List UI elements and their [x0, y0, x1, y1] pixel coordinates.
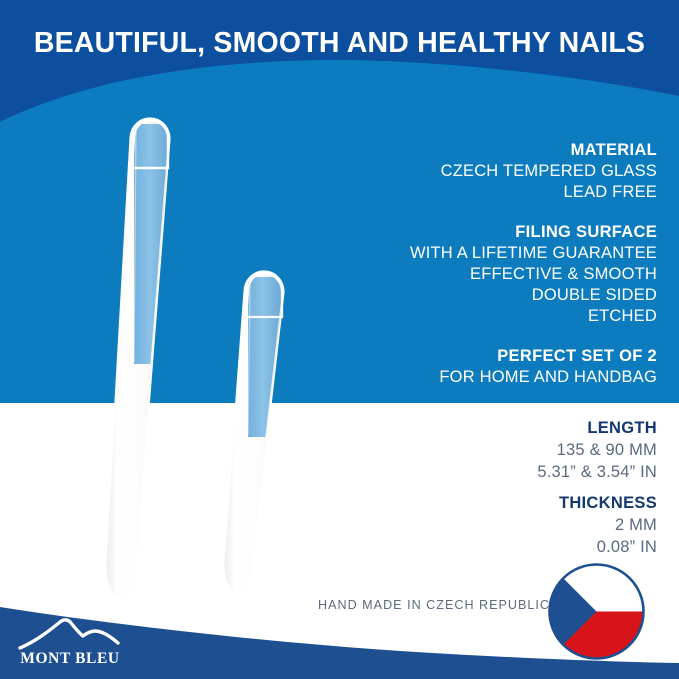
spec-group-material: MATERIAL CZECH TEMPERED GLASS LEAD FREE [327, 140, 657, 203]
spec-heading: PERFECT SET OF 2 [327, 346, 657, 367]
spec-group-thickness: THICKNESS 2 MM 0.08” IN [327, 492, 657, 558]
spec-line: 2 MM [327, 514, 657, 536]
spec-group-perfect-set: PERFECT SET OF 2 FOR HOME AND HANDBAG [327, 346, 657, 388]
spec-line: CZECH TEMPERED GLASS [327, 161, 657, 182]
spec-line: 0.08” IN [327, 536, 657, 558]
brand-logo: MONT BLEU [14, 618, 126, 670]
page-title: BEAUTIFUL, SMOOTH AND HEALTHY NAILS [0, 26, 679, 60]
top-navy-arc [0, 0, 679, 130]
spec-heading: LENGTH [327, 417, 657, 439]
mountain-icon [14, 618, 126, 652]
product-infographic: BEAUTIFUL, SMOOTH AND HEALTHY NAILS MATE… [0, 0, 679, 679]
spec-line: ETCHED [327, 306, 657, 327]
spec-heading: MATERIAL [327, 140, 657, 161]
logo-text: MONT BLEU [14, 650, 126, 668]
nail-file-large [96, 112, 226, 612]
spec-line: EFFECTIVE & SMOOTH [327, 264, 657, 285]
spec-heading: THICKNESS [327, 492, 657, 514]
spec-line: LEAD FREE [327, 182, 657, 203]
spec-line: DOUBLE SIDED [327, 285, 657, 306]
specs-white-column: LENGTH 135 & 90 MM 5.31” & 3.54” IN THIC… [327, 417, 657, 558]
nail-file-small [212, 265, 328, 605]
spec-group-length: LENGTH 135 & 90 MM 5.31” & 3.54” IN [327, 417, 657, 483]
czech-flag-icon [547, 562, 646, 661]
spacer [327, 483, 657, 492]
specs-blue-column: MATERIAL CZECH TEMPERED GLASS LEAD FREE … [327, 140, 657, 388]
spec-line: WITH A LIFETIME GUARANTEE [327, 243, 657, 264]
spec-line: 5.31” & 3.54” IN [327, 461, 657, 483]
spec-line: 135 & 90 MM [327, 439, 657, 461]
spec-heading: FILING SURFACE [327, 222, 657, 243]
spec-line: FOR HOME AND HANDBAG [327, 367, 657, 388]
spec-group-filing-surface: FILING SURFACE WITH A LIFETIME GUARANTEE… [327, 222, 657, 327]
